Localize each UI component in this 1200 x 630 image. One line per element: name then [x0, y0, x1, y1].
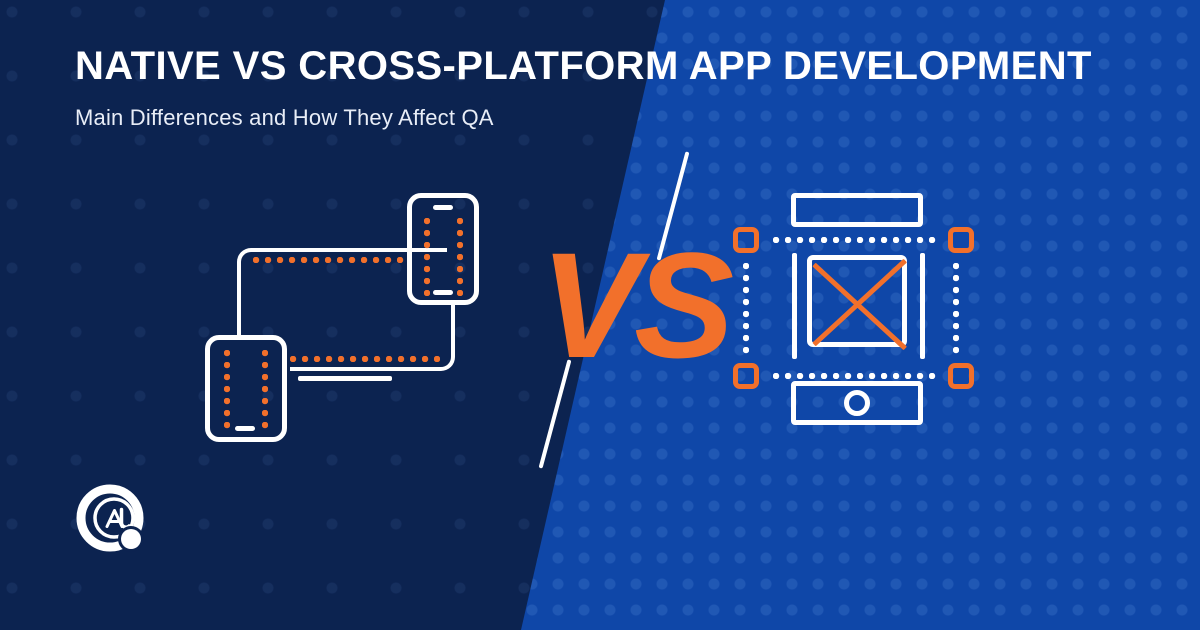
phone-home-indicator-top [433, 290, 453, 295]
wireframe-bottom-bar [791, 381, 923, 425]
brand-logo[interactable] [74, 482, 152, 560]
device-phone-portrait-top [407, 193, 479, 305]
corner-marker-top-left [733, 227, 759, 253]
device-phone-portrait-bottom [205, 335, 287, 442]
header-block: NATIVE VS CROSS-PLATFORM APP DEVELOPMENT… [75, 44, 1175, 131]
phone-speaker-top [433, 205, 453, 210]
at-symbol-circle-icon [74, 482, 152, 560]
guide-line-left [743, 263, 749, 355]
guide-line-right [953, 263, 959, 355]
page-title: NATIVE VS CROSS-PLATFORM APP DEVELOPMENT [75, 44, 1175, 89]
guide-line-bottom [773, 373, 939, 379]
guide-line-top [773, 237, 939, 243]
image-placeholder [807, 255, 907, 347]
native-devices-illustration [195, 180, 495, 460]
data-flow-line-top [253, 257, 408, 263]
corner-marker-bottom-left [733, 363, 759, 389]
page-subtitle: Main Differences and How They Affect QA [75, 105, 1175, 131]
placeholder-diagonal-1 [812, 263, 907, 351]
phone-home-indicator-bottom [235, 426, 255, 431]
ui-bar-accent [298, 376, 392, 381]
wireframe-side-rail-left [792, 253, 797, 359]
versus-label: VS [540, 230, 728, 380]
wireframe-top-bar [791, 193, 923, 227]
data-flow-line-bottom [290, 356, 440, 362]
phone-dot-column-right-bottom [262, 350, 268, 429]
phone-dot-column-left-bottom [224, 350, 230, 429]
wireframe-side-rail-right [920, 253, 925, 359]
corner-marker-bottom-right [948, 363, 974, 389]
banner-root: NATIVE VS CROSS-PLATFORM APP DEVELOPMENT… [0, 0, 1200, 630]
cross-platform-wireframe-illustration [725, 185, 1005, 455]
phone-dot-column-right-top [457, 218, 463, 296]
corner-marker-top-right [948, 227, 974, 253]
phone-dot-column-left-top [424, 218, 430, 296]
wireframe-home-button [844, 390, 870, 416]
versus-graphic: VS [515, 140, 715, 480]
